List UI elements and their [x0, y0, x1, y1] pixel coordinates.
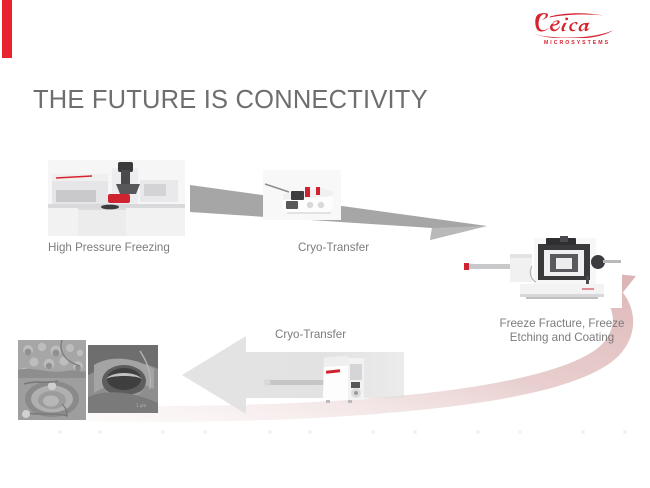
- sem-micrograph-right: 1 µm: [88, 345, 158, 413]
- sem-micrograph-top-left: [18, 340, 86, 378]
- cryo-transfer-shuttle-bottom-photo: [262, 352, 372, 404]
- label-cryo-transfer-bottom: Cryo-Transfer: [275, 328, 346, 342]
- label-cryo-transfer-top: Cryo-Transfer: [298, 241, 369, 255]
- high-pressure-freezer-photo: [48, 160, 185, 236]
- cryo-transfer-shuttle-photo: [263, 170, 341, 220]
- svg-text:1 µm: 1 µm: [136, 403, 146, 408]
- footer-watermark: [0, 428, 650, 436]
- sem-micrograph-bottom-left: [18, 378, 86, 420]
- label-freeze-fracture-line1: Freeze Fracture, Freeze: [500, 317, 625, 330]
- label-freeze-fracture: Freeze Fracture, Freeze Etching and Coat…: [492, 317, 632, 345]
- freeze-fracture-system-photo: [462, 236, 622, 308]
- label-high-pressure-freezing: High Pressure Freezing: [48, 241, 170, 255]
- slide-canvas: MICROSYSTEMS THE FUTURE IS CONNECTIVITY: [0, 0, 650, 488]
- label-freeze-fracture-line2: Etching and Coating: [510, 331, 614, 344]
